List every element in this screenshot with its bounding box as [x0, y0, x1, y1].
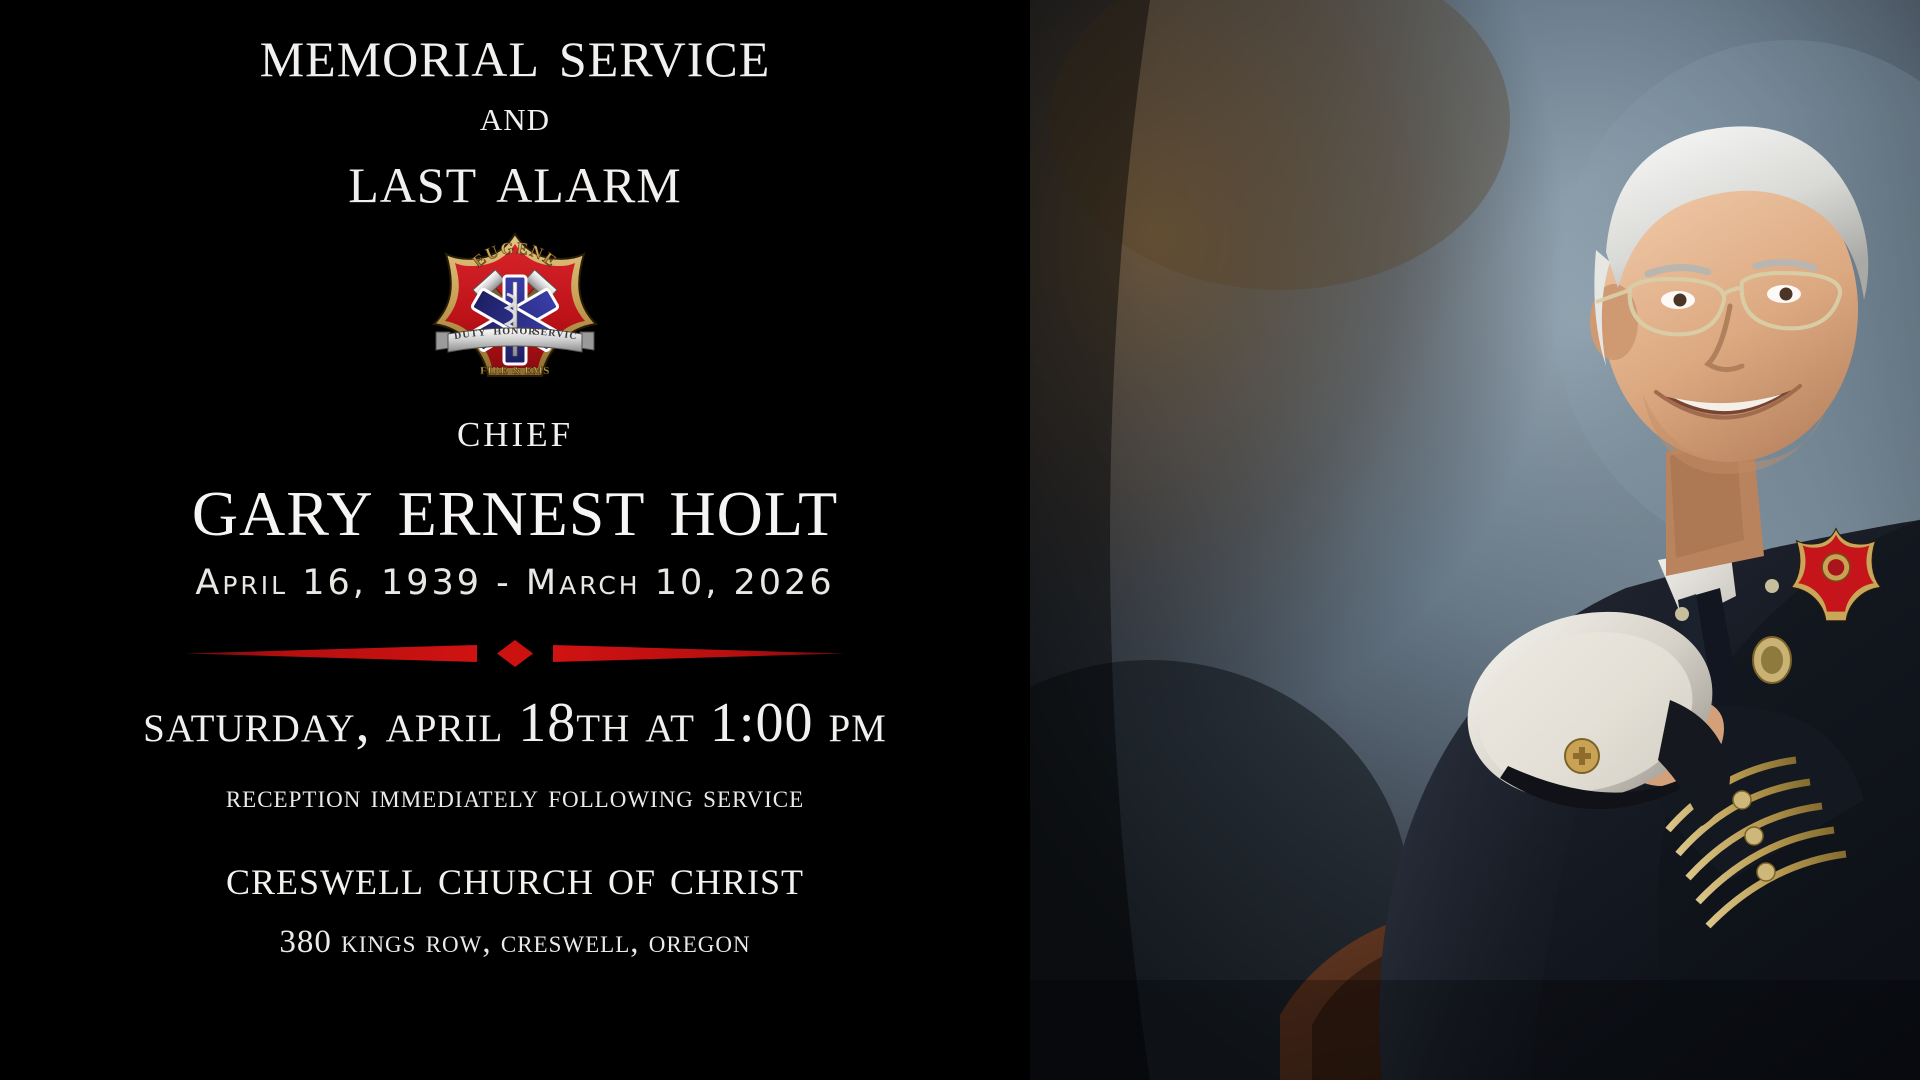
headline-last-alarm: Last Alarm	[348, 142, 682, 214]
headline-and: And	[480, 94, 550, 138]
red-diamond-divider	[185, 635, 845, 669]
honoree-rank: chief	[457, 404, 573, 454]
chief-gary-holt-portrait	[1030, 0, 1920, 1080]
event-reception-note: Reception immediately following Service	[226, 781, 804, 814]
portrait-cap-badge	[1565, 739, 1599, 773]
event-datetime: Saturday, April 18th at 1:00 pm	[143, 695, 887, 751]
headline-memorial-service: Memorial Service	[260, 16, 771, 88]
event-venue-address: 380 Kings Row, Creswell, Oregon	[279, 926, 750, 959]
badge-ribbon-honor: HONOR	[493, 326, 537, 338]
event-venue-name: Creswell Church of Christ	[226, 852, 804, 904]
honoree-dates: April 16, 1939 - March 10, 2026	[195, 566, 834, 601]
honoree-name: Gary Ernest Holt	[192, 458, 838, 550]
poster-text-panel: Memorial Service And Last Alarm	[0, 0, 1030, 1080]
memorial-service-poster: Memorial Service And Last Alarm	[0, 0, 1920, 1080]
svg-text:HONOR: HONOR	[493, 326, 537, 338]
eugene-fire-ems-badge: EUGENE DUTY HONOR SERVICE	[420, 228, 610, 378]
badge-bottom-text: FIRE & EMS	[480, 365, 550, 377]
